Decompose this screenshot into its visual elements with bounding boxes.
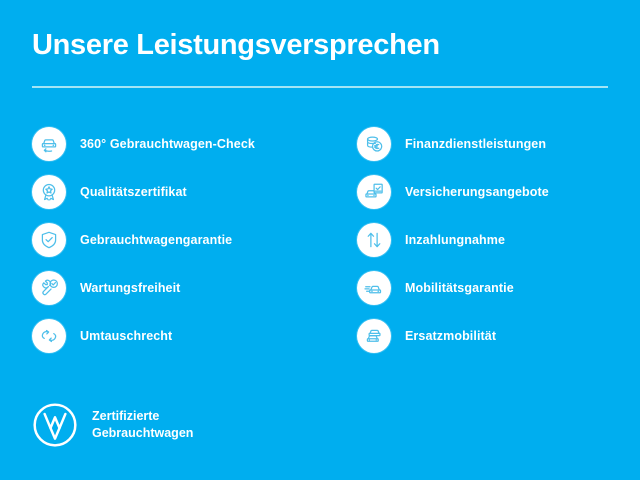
benefit-item-warranty[interactable]: Gebrauchtwagengarantie <box>32 216 332 264</box>
benefit-label: Gebrauchtwagengarantie <box>80 233 232 247</box>
benefit-label: Inzahlungnahme <box>405 233 505 247</box>
benefit-item-mobility-guarantee[interactable]: Mobilitätsgarantie <box>357 264 627 312</box>
benefit-item-trade-in[interactable]: Inzahlungnahme <box>357 216 627 264</box>
benefit-item-financial-services[interactable]: Finanzdienstleistungen <box>357 120 627 168</box>
footer-brand: Zertifizierte Gebrauchtwagen <box>32 402 193 448</box>
award-rosette-icon <box>32 175 66 209</box>
footer-line-2: Gebrauchtwagen <box>92 425 193 442</box>
title-divider <box>32 86 608 88</box>
page-title: Unsere Leistungsversprechen <box>32 30 440 62</box>
volkswagen-logo-icon <box>32 402 78 448</box>
shield-check-icon <box>32 223 66 257</box>
car-motion-icon <box>357 271 391 305</box>
benefits-right-column: Finanzdienstleistungen Versicherungsange… <box>357 120 627 360</box>
coins-euro-icon <box>357 127 391 161</box>
promise-panel: Unsere Leistungsversprechen 360° Gebrauc… <box>0 0 640 480</box>
car-document-check-icon <box>357 175 391 209</box>
benefit-label: Wartungsfreiheit <box>80 281 180 295</box>
benefit-item-360-check[interactable]: 360° Gebrauchtwagen-Check <box>32 120 332 168</box>
exchange-arrows-icon <box>32 319 66 353</box>
benefit-item-maintenance-free[interactable]: Wartungsfreiheit <box>32 264 332 312</box>
wrench-check-icon <box>32 271 66 305</box>
benefit-label: Qualitätszertifikat <box>80 185 187 199</box>
footer-text: Zertifizierte Gebrauchtwagen <box>92 408 193 442</box>
benefit-label: Ersatzmobilität <box>405 329 496 343</box>
arrows-up-down-icon <box>357 223 391 257</box>
benefit-item-quality-certificate[interactable]: Qualitätszertifikat <box>32 168 332 216</box>
benefit-label: Umtauschrecht <box>80 329 172 343</box>
benefit-label: Versicherungsangebote <box>405 185 549 199</box>
benefit-label: 360° Gebrauchtwagen-Check <box>80 137 255 151</box>
benefit-item-exchange-right[interactable]: Umtauschrecht <box>32 312 332 360</box>
footer-line-1: Zertifizierte <box>92 408 193 425</box>
car-360-check-icon <box>32 127 66 161</box>
benefit-item-insurance-offers[interactable]: Versicherungsangebote <box>357 168 627 216</box>
benefit-item-replacement-mobility[interactable]: Ersatzmobilität <box>357 312 627 360</box>
benefits-left-column: 360° Gebrauchtwagen-Check Qualitätszerti… <box>32 120 332 360</box>
benefit-label: Finanzdienstleistungen <box>405 137 546 151</box>
benefit-label: Mobilitätsgarantie <box>405 281 514 295</box>
two-cars-icon <box>357 319 391 353</box>
